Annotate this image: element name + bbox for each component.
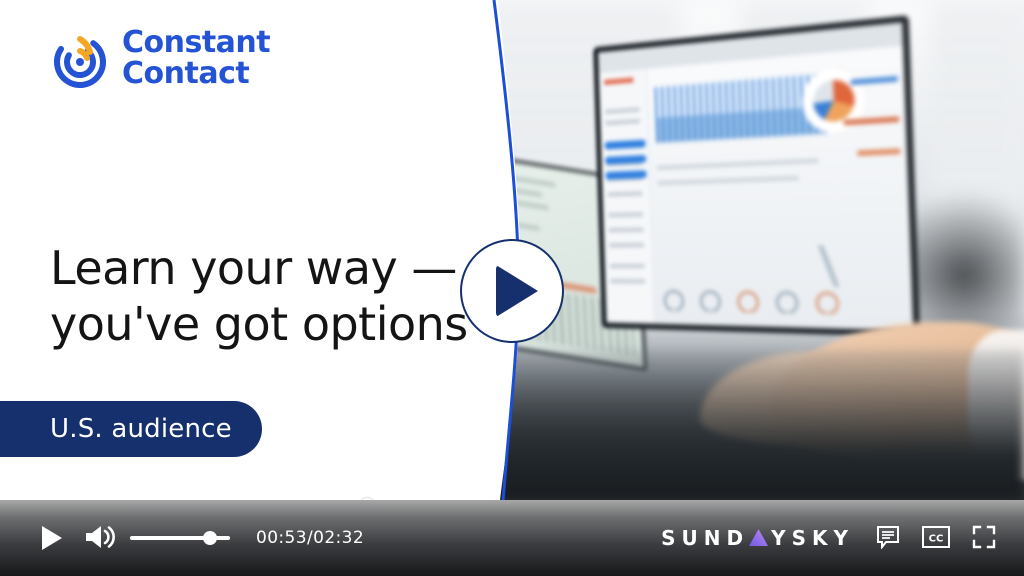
transcript-button[interactable] [876,525,900,552]
player-control-bar: 00:53/02:32 SUND YSKY [0,500,1024,576]
watermark-text-after: YSKY [771,526,854,550]
slide-headline: Learn your way — you've got options [50,240,480,352]
logo-line-2: Contact [122,56,249,91]
play-overlay-button[interactable] [460,239,564,343]
watermark-text-before: SUND [661,526,749,550]
controls-right-group: SUND YSKY [661,525,1024,552]
closed-caption-icon: CC [922,526,950,551]
headline-line-2: you've got options [50,296,480,352]
volume-slider[interactable] [130,528,230,548]
sundaysky-watermark: SUND YSKY [661,526,854,550]
volume-button[interactable] [74,518,126,558]
video-background-photo [470,0,1024,500]
headline-line-1: Learn your way — [50,240,480,296]
desk-surface [470,350,1024,500]
transcript-icon [876,525,900,552]
primary-laptop [593,15,920,337]
cc-button[interactable]: CC [922,526,950,551]
controls-left-group: 00:53/02:32 [0,518,364,558]
fullscreen-icon [972,525,996,552]
fullscreen-button[interactable] [972,525,996,552]
video-player[interactable]: Constant Contact Learn your way — you've… [0,0,1024,576]
svg-text:CC: CC [929,533,944,544]
brand-logo: Constant Contact [50,28,270,90]
volume-slider-handle[interactable] [203,531,217,545]
gradient-triangle-icon [749,526,771,550]
audience-badge: U.S. audience [0,401,262,457]
play-triangle-icon [496,265,538,317]
play-button[interactable] [30,518,74,558]
brand-logo-text: Constant Contact [122,28,270,89]
dashboard-screen [598,22,913,330]
time-display: 00:53/02:32 [256,528,364,548]
constant-contact-swirl-icon [50,28,112,90]
audience-badge-label: U.S. audience [50,414,232,444]
volume-high-icon [83,523,117,554]
play-icon [42,526,62,550]
